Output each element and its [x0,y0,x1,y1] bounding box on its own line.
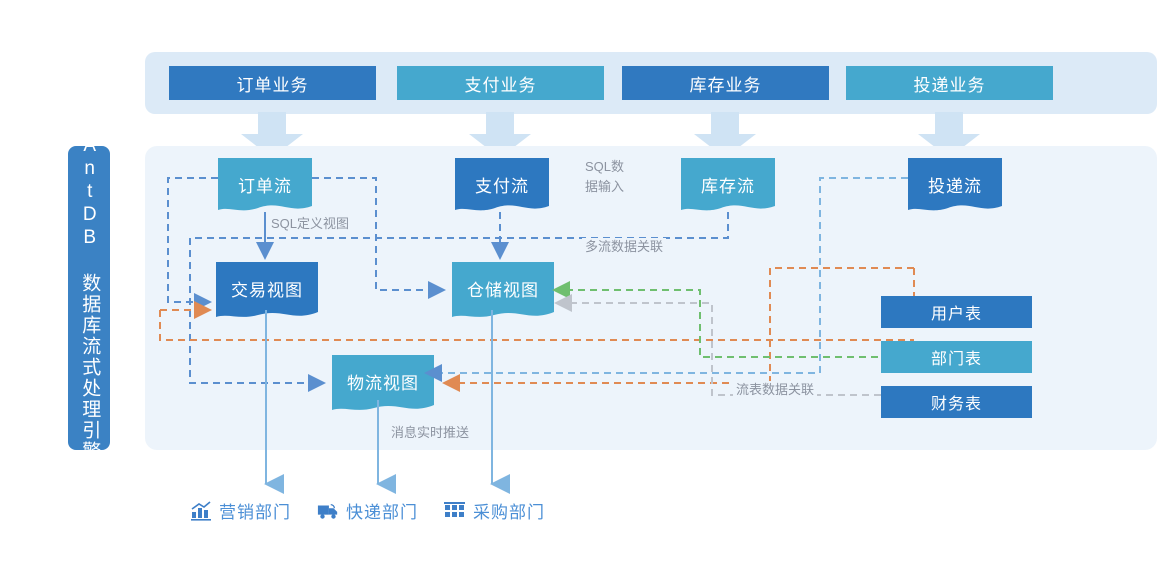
department-label: 营销部门 [219,498,291,523]
antdb-banner: AntDB 数据库流式处理引擎 [68,146,110,450]
stream-node-payment[interactable]: 支付流 [455,158,549,214]
stream-node-label: 支付流 [475,158,529,197]
table-box-label: 部门表 [931,345,982,369]
antdb-banner-label: AntDB 数据库流式处理引擎 [78,135,100,462]
view-node-label: 仓储视图 [467,262,539,301]
view-node-label: 物流视图 [347,355,419,394]
annotation-sql-input-line1: SQL数 [582,158,627,176]
table-box-finance[interactable]: 财务表 [881,386,1032,418]
table-box-label: 财务表 [931,390,982,414]
business-box-payment[interactable]: 支付业务 [397,66,604,100]
business-box-delivery[interactable]: 投递业务 [846,66,1053,100]
business-box-order[interactable]: 订单业务 [169,66,376,100]
annotation-multi-stream-join: 多流数据关联 [582,238,666,256]
view-node-transaction[interactable]: 交易视图 [216,262,318,322]
department-marketing[interactable]: 营销部门 [190,498,291,523]
stream-node-label: 订单流 [238,158,292,197]
department-label: 快递部门 [346,498,418,523]
department-label: 采购部门 [473,498,545,523]
annotation-realtime-push: 消息实时推送 [388,424,472,442]
business-box-label: 库存业务 [690,71,762,96]
table-box-user[interactable]: 用户表 [881,296,1032,328]
annotation-stream-table-join: 流表数据关联 [733,381,817,399]
bar-chart-icon [190,501,212,521]
view-node-warehouse[interactable]: 仓储视图 [452,262,554,322]
business-box-stock[interactable]: 库存业务 [622,66,829,100]
stream-node-stock[interactable]: 库存流 [681,158,775,214]
table-box-dept[interactable]: 部门表 [881,341,1032,373]
truck-icon [317,501,339,521]
stream-node-order[interactable]: 订单流 [218,158,312,214]
view-node-label: 交易视图 [231,262,303,301]
view-node-logistics[interactable]: 物流视图 [332,355,434,415]
business-box-label: 支付业务 [465,71,537,96]
stream-node-delivery[interactable]: 投递流 [908,158,1002,214]
annotation-sql-input-line2: 据输入 [582,178,627,196]
table-box-label: 用户表 [931,300,982,324]
business-box-label: 订单业务 [237,71,309,96]
department-express[interactable]: 快递部门 [317,498,418,523]
department-purchasing[interactable]: 采购部门 [444,498,545,523]
annotation-sql-define-view: SQL定义视图 [268,215,352,233]
business-box-label: 投递业务 [914,71,986,96]
diagram-canvas: 订单业务 支付业务 库存业务 投递业务 AntDB 数据库流式处理引擎 [0,0,1166,562]
stream-node-label: 库存流 [701,158,755,197]
department-row: 营销部门 快递部门 采购部门 [190,498,545,523]
warehouse-grid-icon [444,501,466,521]
stream-node-label: 投递流 [928,158,982,197]
